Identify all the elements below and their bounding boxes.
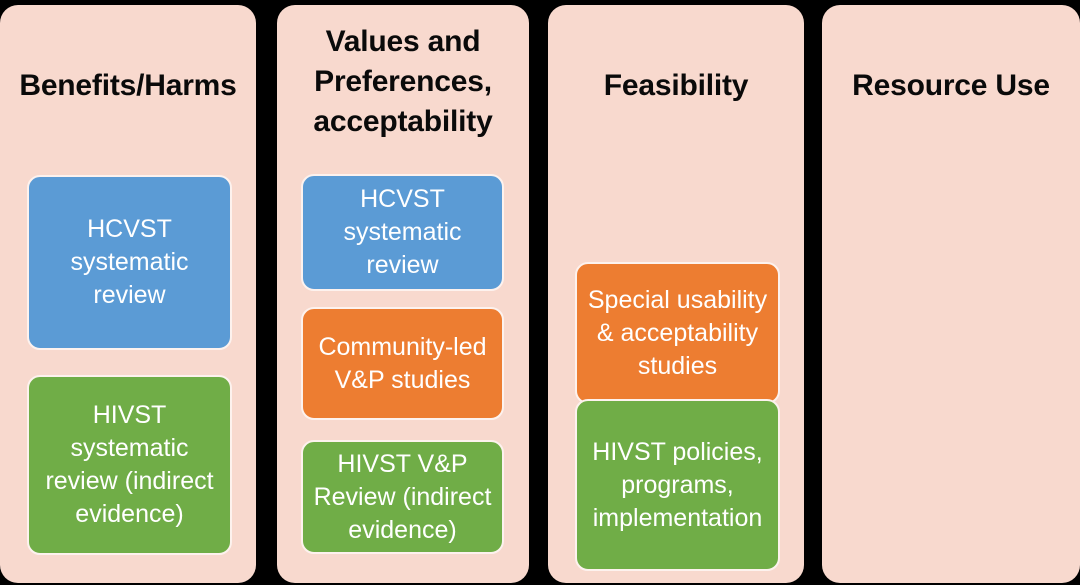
- card-benefits-harms-hivst-systematic-review[interactable]: HIVST systematic review (indirect eviden…: [27, 375, 232, 555]
- card-label: HCVST systematic review: [309, 183, 496, 282]
- card-benefits-harms-hcvst-systematic-review[interactable]: HCVST systematic review: [27, 175, 232, 350]
- panel-title-benefits-harms: Benefits/Harms: [0, 66, 256, 106]
- card-values-preferences-hivst-vp-review[interactable]: HIVST V&P Review (indirect evidence): [301, 440, 504, 554]
- panel-title-feasibility: Feasibility: [548, 66, 804, 106]
- card-values-preferences-community-led-vp-studies[interactable]: Community-led V&P studies: [301, 307, 504, 420]
- card-values-preferences-hcvst-systematic-review[interactable]: HCVST systematic review: [301, 174, 504, 291]
- card-label: HCVST systematic review: [35, 213, 224, 312]
- card-label: Special usability & acceptability studie…: [583, 284, 772, 383]
- card-label: HIVST policies, programs, implementation: [583, 436, 772, 535]
- panel-title-values-preferences: Values and Preferences, acceptability: [277, 22, 529, 142]
- panel-title-resource-use: Resource Use: [822, 66, 1080, 106]
- card-feasibility-hivst-policies-programs-implementation[interactable]: HIVST policies, programs, implementation: [575, 399, 780, 571]
- card-label: HIVST V&P Review (indirect evidence): [309, 448, 496, 547]
- card-label: Community-led V&P studies: [309, 331, 496, 397]
- card-label: HIVST systematic review (indirect eviden…: [35, 399, 224, 531]
- diagram-canvas: Benefits/Harms HCVST systematic review H…: [0, 0, 1080, 585]
- card-feasibility-special-usability-acceptability-studies[interactable]: Special usability & acceptability studie…: [575, 262, 780, 404]
